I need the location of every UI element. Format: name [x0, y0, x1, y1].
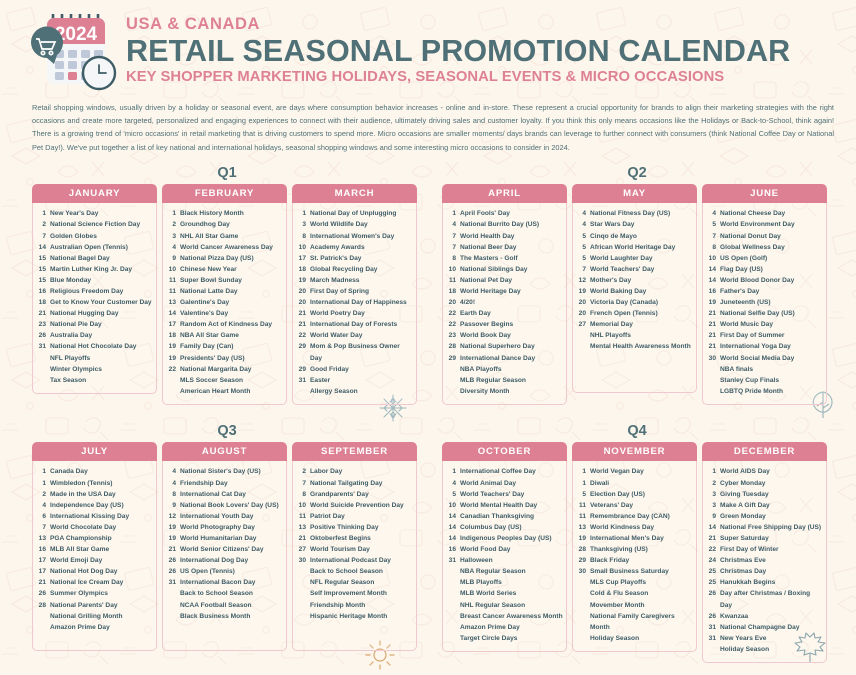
- event-row: Amazon Prime Day: [37, 622, 153, 633]
- event-row: Stanley Cup Finals: [707, 375, 823, 386]
- month-header-march: MARCH: [292, 184, 417, 204]
- month-header-february: FEBRUARY: [162, 184, 287, 204]
- event-row: 28Thanksgiving (US): [577, 544, 693, 555]
- month-column-august: AUGUST 4National Sister's Day (US) 4Frie…: [162, 442, 287, 652]
- event-row: 1Wimbledon (Tennis): [37, 478, 153, 489]
- event-row: 204/20!: [447, 297, 563, 308]
- event-row: 5World Environment Day: [707, 219, 823, 230]
- event-row: 18Get to Know Your Customer Day: [37, 297, 153, 308]
- event-row: 21First Day of Summer: [707, 330, 823, 341]
- month-events-june: 4National Cheese Day 5World Environment …: [702, 203, 827, 405]
- event-row: 9Green Monday: [707, 511, 823, 522]
- event-row: 19World Humanitarian Day: [167, 533, 283, 544]
- event-row: 1International Coffee Day: [447, 466, 563, 477]
- month-events-july: 1Canada Day 1Wimbledon (Tennis) 2Made in…: [32, 461, 157, 651]
- event-row: 4Star Wars Day: [577, 219, 693, 230]
- quarter-label-q4: Q4: [442, 420, 832, 442]
- event-row: 11National Pet Day: [447, 275, 563, 286]
- event-row: 26Summer Olympics: [37, 588, 153, 599]
- event-row: 3Giving Tuesday: [707, 489, 823, 500]
- event-row: 4National Sister's Day (US): [167, 466, 283, 477]
- event-row: Cold & Flu Season: [577, 588, 693, 599]
- event-row: 12Mother's Day: [577, 275, 693, 286]
- month-column-may: MAY 4National Fitness Day (US) 4Star War…: [572, 184, 697, 405]
- event-row: 11Patriot Day: [297, 511, 413, 522]
- event-row: Winter Olympics: [37, 364, 153, 375]
- event-row: 12International Youth Day: [167, 511, 283, 522]
- quarter-q3: Q3 JULY 1Canada Day 1Wimbledon (Tennis) …: [32, 420, 422, 663]
- month-header-july: JULY: [32, 442, 157, 462]
- event-row: 17Random Act of Kindness Day: [167, 319, 283, 330]
- event-row: 1National Day of Unplugging: [297, 208, 413, 219]
- event-row: NHL Playoffs: [577, 330, 693, 341]
- event-row: 19March Madness: [297, 275, 413, 286]
- event-row: 4National Fitness Day (US): [577, 208, 693, 219]
- event-row: 17World Emoji Day: [37, 555, 153, 566]
- event-row: 21World Senior Citizens' Day: [167, 544, 283, 555]
- quarter-q4: Q4 OCTOBER 1International Coffee Day 4Wo…: [442, 420, 832, 663]
- event-row: Friendship Month: [297, 600, 413, 611]
- event-row: 10Academy Awards: [297, 242, 413, 253]
- event-row: 7World Health Day: [447, 231, 563, 242]
- event-row: American Heart Month: [167, 386, 283, 397]
- event-row: 7World Teachers' Day: [577, 264, 693, 275]
- month-events-november: 1World Vegan Day 1Diwali 5Election Day (…: [572, 461, 697, 652]
- event-row: 19International Men's Day: [577, 533, 693, 544]
- event-row: 28National Superhero Day: [447, 341, 563, 352]
- month-header-may: MAY: [572, 184, 697, 204]
- infographic-page: 2024: [0, 0, 856, 675]
- event-row: 11National Latte Day: [167, 286, 283, 297]
- event-row: 1Canada Day: [37, 466, 153, 477]
- event-row: 8Global Wellness Day: [707, 242, 823, 253]
- event-row: 7Golden Globes: [37, 231, 153, 242]
- event-row: 19World Photography Day: [167, 522, 283, 533]
- month-column-april: APRIL 1April Fools' Day 4National Burrit…: [442, 184, 567, 405]
- event-row: 21International Yoga Day: [707, 341, 823, 352]
- event-row: 19World Baking Day: [577, 286, 693, 297]
- event-row: 31New Years Eve: [707, 633, 823, 644]
- month-events-april: 1April Fools' Day 4National Burrito Day …: [442, 203, 567, 405]
- event-row: 19Presidents' Day (US): [167, 353, 283, 364]
- event-row: 2Groundhog Day: [167, 219, 283, 230]
- event-row: 31Halloween: [447, 555, 563, 566]
- event-row: Back to School Season: [297, 566, 413, 577]
- event-row: 25Christmas Day: [707, 566, 823, 577]
- event-row: 4Friendship Day: [167, 478, 283, 489]
- month-header-october: OCTOBER: [442, 442, 567, 462]
- event-row: 18NBA All Star Game: [167, 330, 283, 341]
- event-row: 1World AIDS Day: [707, 466, 823, 477]
- event-row: 10Chinese New Year: [167, 264, 283, 275]
- event-row: 4World Cancer Awareness Day: [167, 242, 283, 253]
- event-row: 10National Siblings Day: [447, 264, 563, 275]
- event-row: 3Make A Gift Day: [707, 500, 823, 511]
- event-row: 31International Bacon Day: [167, 577, 283, 588]
- month-header-december: DECEMBER: [702, 442, 827, 462]
- event-row: MLB Regular Season: [447, 375, 563, 386]
- event-row: NBA Regular Season: [447, 566, 563, 577]
- months-q1: JANUARY 1New Year's Day 2National Scienc…: [32, 184, 422, 405]
- event-row: 21National Selfie Day (US): [707, 308, 823, 319]
- event-row: 26International Dog Day: [167, 555, 283, 566]
- event-row: 14Canadian Thanksgiving: [447, 511, 563, 522]
- event-row: MLS Cup Playoffs: [577, 577, 693, 588]
- event-row: NBA Playoffs: [447, 364, 563, 375]
- event-row: 17St. Patrick's Day: [297, 253, 413, 264]
- event-row: 26Australia Day: [37, 330, 153, 341]
- event-row: Amazon Prime Day: [447, 622, 563, 633]
- month-events-february: 1Black History Month 2Groundhog Day 3NHL…: [162, 203, 287, 405]
- event-row: 2National Science Fiction Day: [37, 219, 153, 230]
- month-column-october: OCTOBER 1International Coffee Day 4World…: [442, 442, 567, 663]
- page-header: 2024: [0, 0, 856, 92]
- event-row: 30International Podcast Day: [297, 555, 413, 566]
- event-row: 21National Ice Cream Day: [37, 577, 153, 588]
- header-eyebrow: USA & CANADA: [126, 15, 790, 34]
- event-row: 5Election Day (US): [577, 489, 693, 500]
- event-row: 16Religious Freedom Day: [37, 286, 153, 297]
- event-row: 22Passover Begins: [447, 319, 563, 330]
- event-row: 2Cyber Monday: [707, 478, 823, 489]
- event-row: 14Valentine's Day: [167, 308, 283, 319]
- event-row: MLB World Series: [447, 588, 563, 599]
- event-row: 26Kwanzaa: [707, 611, 823, 622]
- event-row: 26Day after Christmas / Boxing Day: [707, 588, 823, 610]
- month-header-november: NOVEMBER: [572, 442, 697, 462]
- event-row: 9National Pizza Day (US): [167, 253, 283, 264]
- event-row: NCAA Football Season: [167, 600, 283, 611]
- quarter-label-q3: Q3: [32, 420, 422, 442]
- event-row: NBA finals: [707, 364, 823, 375]
- event-row: 31National Champagne Day: [707, 622, 823, 633]
- event-row: 25Hanukkah Begins: [707, 577, 823, 588]
- event-row: National Grilling Month: [37, 611, 153, 622]
- event-row: Self Improvement Month: [297, 588, 413, 599]
- event-row: 18World Heritage Day: [447, 286, 563, 297]
- month-header-september: SEPTEMBER: [292, 442, 417, 462]
- event-row: 10US Open (Golf): [707, 253, 823, 264]
- event-row: 11Veterans' Day: [577, 500, 693, 511]
- event-row: 14Flag Day (US): [707, 264, 823, 275]
- event-row: 11Super Bowl Sunday: [167, 275, 283, 286]
- event-row: 18Global Recycling Day: [297, 264, 413, 275]
- event-row: 13Galentine's Day: [167, 297, 283, 308]
- event-row: NHL Regular Season: [447, 600, 563, 611]
- event-row: Movember Month: [577, 600, 693, 611]
- page-title: RETAIL SEASONAL PROMOTION CALENDAR: [126, 34, 790, 68]
- quarter-row-top: Q1 JANUARY 1New Year's Day 2National Sci…: [0, 162, 856, 405]
- event-row: Target Circle Days: [447, 633, 563, 644]
- month-header-june: JUNE: [702, 184, 827, 204]
- months-q4: OCTOBER 1International Coffee Day 4World…: [442, 442, 832, 663]
- clock-icon: [83, 57, 115, 89]
- event-row: 4National Cheese Day: [707, 208, 823, 219]
- month-events-september: 2Labor Day 7National Tailgating Day 8Gra…: [292, 461, 417, 651]
- event-row: 2Made in the USA Day: [37, 489, 153, 500]
- calendar-icon: 2024: [26, 9, 118, 93]
- month-column-november: NOVEMBER 1World Vegan Day 1Diwali 5Elect…: [572, 442, 697, 663]
- event-row: 24Christmas Eve: [707, 555, 823, 566]
- logo: 2024: [26, 9, 118, 93]
- month-events-december: 1World AIDS Day 2Cyber Monday 3Giving Tu…: [702, 461, 827, 663]
- event-row: 15Martin Luther King Jr. Day: [37, 264, 153, 275]
- event-row: 22World Water Day: [297, 330, 413, 341]
- event-row: 4World Animal Day: [447, 478, 563, 489]
- quarter-q2: Q2 APRIL 1April Fools' Day 4National Bur…: [442, 162, 832, 405]
- event-row: 15National Bagel Day: [37, 253, 153, 264]
- event-row: 16MLB All Star Game: [37, 544, 153, 555]
- event-row: 14Australian Open (Tennis): [37, 242, 153, 253]
- event-row: 29International Dance Day: [447, 353, 563, 364]
- month-header-august: AUGUST: [162, 442, 287, 462]
- event-row: Black Business Month: [167, 611, 283, 622]
- event-row: 2Labor Day: [297, 466, 413, 477]
- event-row: 6International Kissing Day: [37, 511, 153, 522]
- event-row: 27Memorial Day: [577, 319, 693, 330]
- quarter-row-bottom: Q3 JULY 1Canada Day 1Wimbledon (Tennis) …: [0, 420, 856, 663]
- month-events-march: 1National Day of Unplugging 3World Wildl…: [292, 203, 417, 405]
- event-row: Holiday Season: [707, 644, 823, 655]
- event-row: 7National Beer Day: [447, 242, 563, 253]
- event-row: 16World Food Day: [447, 544, 563, 555]
- quarter-label-q2: Q2: [442, 162, 832, 184]
- quarter-label-q1: Q1: [32, 162, 422, 184]
- event-row: 14Columbus Day (US): [447, 522, 563, 533]
- event-row: 21International Day of Forests: [297, 319, 413, 330]
- event-row: 5Cinqo de Mayo: [577, 231, 693, 242]
- event-row: MLB Playoffs: [447, 577, 563, 588]
- month-column-february: FEBRUARY 1Black History Month 2Groundhog…: [162, 184, 287, 405]
- event-row: 11Remembrance Day (CAN): [577, 511, 693, 522]
- event-row: 23National Pie Day: [37, 319, 153, 330]
- event-row: 20French Open (Tennis): [577, 308, 693, 319]
- event-row: 31National Hot Chocolate Day: [37, 341, 153, 352]
- event-row: 21World Poetry Day: [297, 308, 413, 319]
- event-row: Tax Season: [37, 375, 153, 386]
- month-events-may: 4National Fitness Day (US) 4Star Wars Da…: [572, 203, 697, 393]
- event-row: Holiday Season: [577, 633, 693, 644]
- month-column-january: JANUARY 1New Year's Day 2National Scienc…: [32, 184, 157, 405]
- month-column-july: JULY 1Canada Day 1Wimbledon (Tennis) 2Ma…: [32, 442, 157, 652]
- event-row: 5World Teachers' Day: [447, 489, 563, 500]
- event-row: 10World Suicide Prevention Day: [297, 500, 413, 511]
- event-row: Allergy Season: [297, 386, 413, 397]
- event-row: 14National Free Shipping Day (US): [707, 522, 823, 533]
- month-column-september: SEPTEMBER 2Labor Day 7National Tailgatin…: [292, 442, 417, 652]
- event-row: 1Diwali: [577, 478, 693, 489]
- event-row: 21Super Saturday: [707, 533, 823, 544]
- event-row: 13World Kindness Day: [577, 522, 693, 533]
- event-row: 3World Wildlife Day: [297, 219, 413, 230]
- month-column-december: DECEMBER 1World AIDS Day 2Cyber Monday 3…: [702, 442, 827, 663]
- months-q3: JULY 1Canada Day 1Wimbledon (Tennis) 2Ma…: [32, 442, 422, 652]
- event-row: 4Independence Day (US): [37, 500, 153, 511]
- event-row: 7National Donut Day: [707, 231, 823, 242]
- event-row: 9National Book Lovers' Day (US): [167, 500, 283, 511]
- event-row: 8The Masters - Golf: [447, 253, 563, 264]
- event-row: Diversity Month: [447, 386, 563, 397]
- event-row: Mental Health Awareness Month: [577, 341, 693, 352]
- months-q2: APRIL 1April Fools' Day 4National Burrit…: [442, 184, 832, 405]
- month-header-april: APRIL: [442, 184, 567, 204]
- event-row: 14World Blood Donor Day: [707, 275, 823, 286]
- event-row: 13PGA Championship: [37, 533, 153, 544]
- event-row: 1Black History Month: [167, 208, 283, 219]
- event-row: 30World Social Media Day: [707, 353, 823, 364]
- event-row: 8International Women's Day: [297, 231, 413, 242]
- month-column-march: MARCH 1National Day of Unplugging 3World…: [292, 184, 417, 405]
- calendar-grid: Q1 JANUARY 1New Year's Day 2National Sci…: [0, 162, 856, 663]
- event-row: 5World Laughter Day: [577, 253, 693, 264]
- event-row: Back to School Season: [167, 588, 283, 599]
- event-row: 21National Hugging Day: [37, 308, 153, 319]
- event-row: 20Victoria Day (Canada): [577, 297, 693, 308]
- event-row: 1New Year's Day: [37, 208, 153, 219]
- event-row: 3NHL All Star Game: [167, 231, 283, 242]
- event-row: 28National Parents' Day: [37, 600, 153, 611]
- event-row: 19Juneteenth (US): [707, 297, 823, 308]
- event-row: 22Earth Day: [447, 308, 563, 319]
- event-row: 21World Music Day: [707, 319, 823, 330]
- event-row: 17National Hot Dog Day: [37, 566, 153, 577]
- title-block: USA & CANADA RETAIL SEASONAL PROMOTION C…: [118, 15, 790, 87]
- event-row: 21Oktoberfest Begins: [297, 533, 413, 544]
- event-row: 16Father's Day: [707, 286, 823, 297]
- event-row: NFL Regular Season: [297, 577, 413, 588]
- event-row: 20First Day of Spring: [297, 286, 413, 297]
- quarter-q1: Q1 JANUARY 1New Year's Day 2National Sci…: [32, 162, 422, 405]
- event-row: 1World Vegan Day: [577, 466, 693, 477]
- event-row: 5African World Heritage Day: [577, 242, 693, 253]
- event-row: LGBTQ Pride Month: [707, 386, 823, 397]
- event-row: 8International Cat Day: [167, 489, 283, 500]
- month-events-august: 4National Sister's Day (US) 4Friendship …: [162, 461, 287, 651]
- month-events-october: 1International Coffee Day 4World Animal …: [442, 461, 567, 652]
- event-row: 13Positive Thinking Day: [297, 522, 413, 533]
- month-column-june: JUNE 4National Cheese Day 5World Environ…: [702, 184, 827, 405]
- event-row: 15Blue Monday: [37, 275, 153, 286]
- event-row: 29Good Friday: [297, 364, 413, 375]
- event-row: 4National Burrito Day (US): [447, 219, 563, 230]
- event-row: 19Family Day (Can): [167, 341, 283, 352]
- intro-paragraph: Retail shopping windows, usually driven …: [32, 101, 834, 154]
- event-row: Hispanic Heritage Month: [297, 611, 413, 622]
- event-row: 7World Chocolate Day: [37, 522, 153, 533]
- event-row: National Family Caregivers Month: [577, 611, 693, 633]
- event-row: 29Mom & Pop Business Owner Day: [297, 341, 413, 363]
- event-row: MLS Soccer Season: [167, 375, 283, 386]
- event-row: 27World Tourism Day: [297, 544, 413, 555]
- event-row: 8Grandparents' Day: [297, 489, 413, 500]
- month-header-january: JANUARY: [32, 184, 157, 204]
- event-row: 31Easter: [297, 375, 413, 386]
- page-subtitle: KEY SHOPPER MARKETING HOLIDAYS, SEASONAL…: [126, 68, 790, 87]
- event-row: 29Black Friday: [577, 555, 693, 566]
- month-events-january: 1New Year's Day 2National Science Fictio…: [32, 203, 157, 394]
- event-row: 20International Day of Happiness: [297, 297, 413, 308]
- event-row: 10World Mental Health Day: [447, 500, 563, 511]
- event-row: 7National Tailgating Day: [297, 478, 413, 489]
- event-row: 23World Book Day: [447, 330, 563, 341]
- event-row: 22National Margarita Day: [167, 364, 283, 375]
- event-row: NFL Playoffs: [37, 353, 153, 364]
- event-row: 26US Open (Tennis): [167, 566, 283, 577]
- event-row: Breast Cancer Awareness Month: [447, 611, 563, 622]
- event-row: 1April Fools' Day: [447, 208, 563, 219]
- event-row: 30Small Business Saturday: [577, 566, 693, 577]
- event-row: 14Indigenous Peoples Day (US): [447, 533, 563, 544]
- event-row: 22First Day of Winter: [707, 544, 823, 555]
